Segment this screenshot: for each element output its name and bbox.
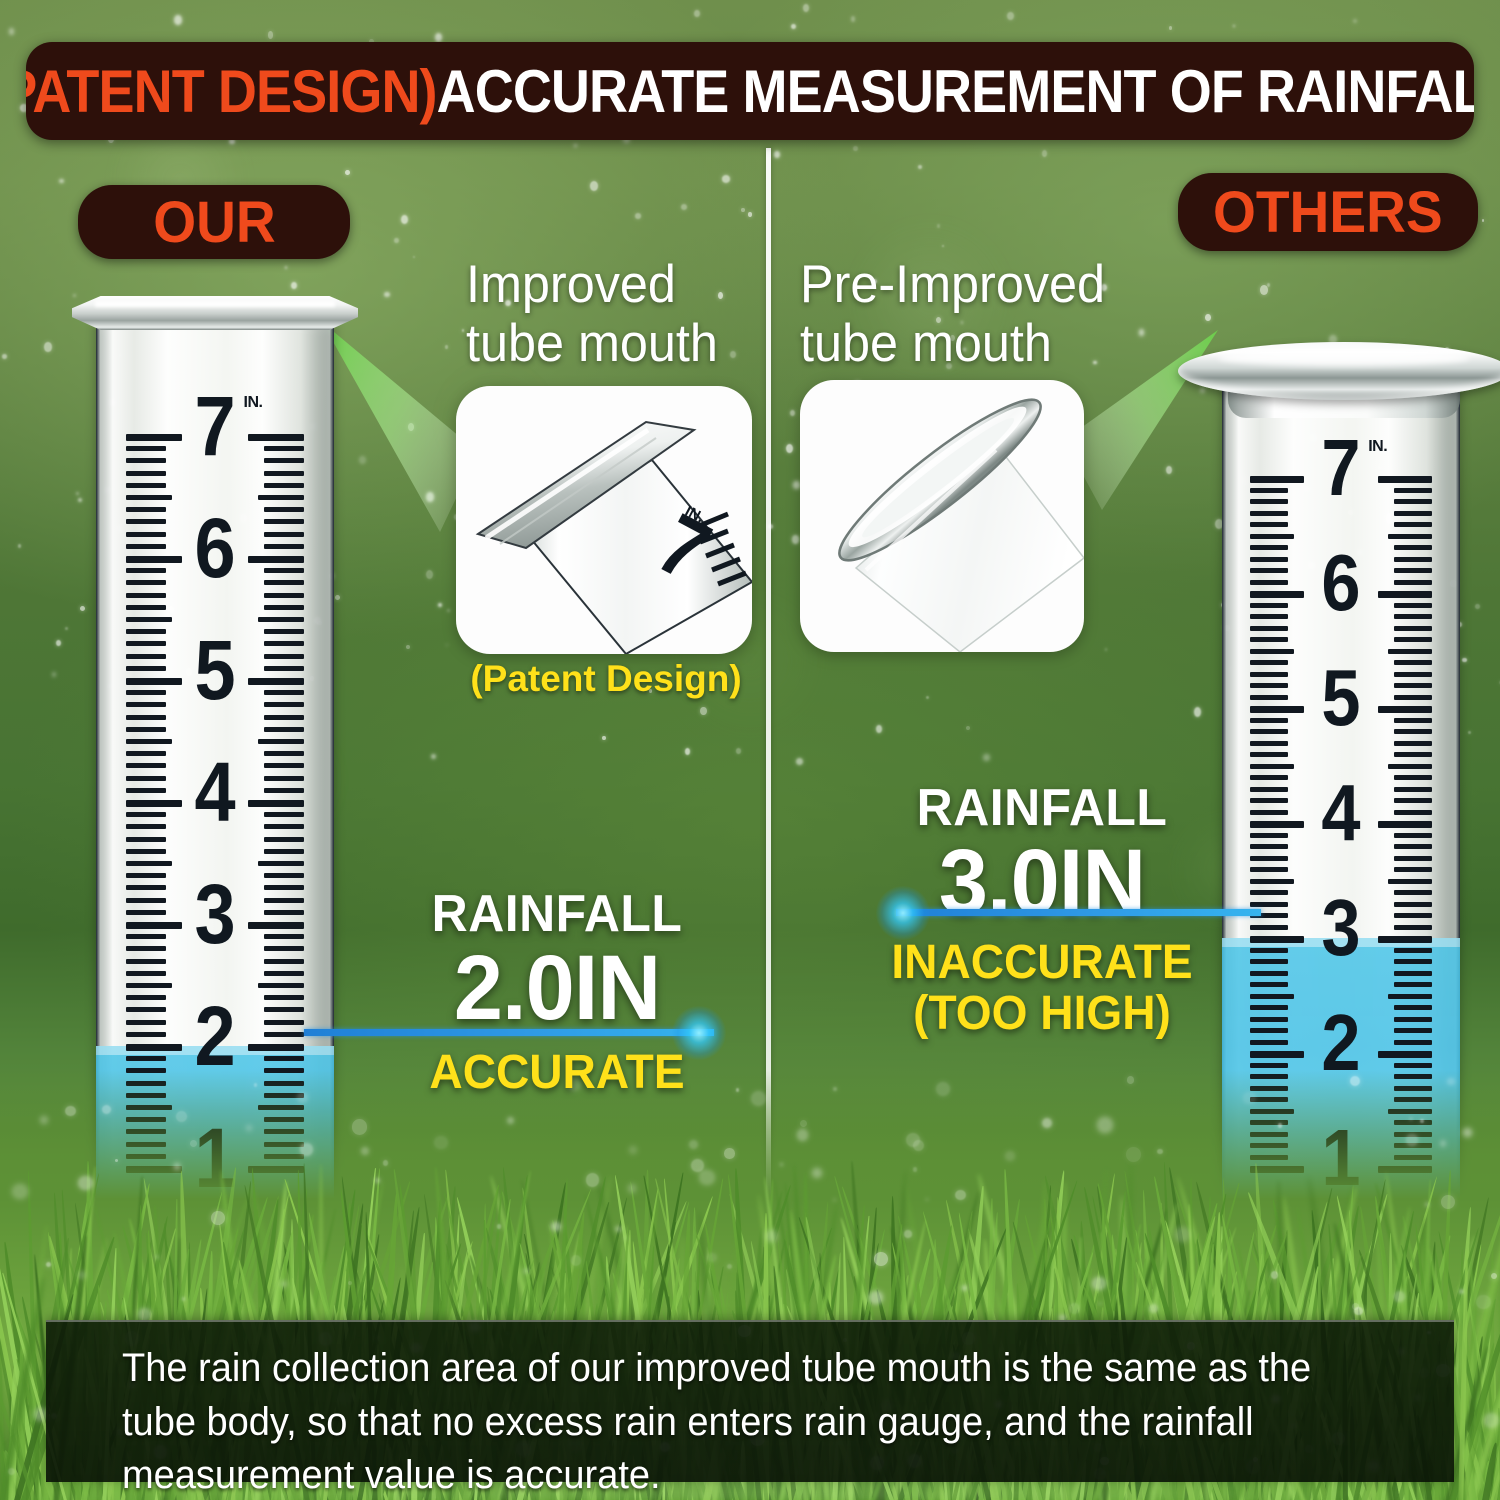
badge-others: OTHERS	[1178, 173, 1478, 251]
infographic-canvas: 7654321IN. 7654321IN.	[0, 0, 1500, 1500]
improved-mouth-label-line1: Improved	[466, 255, 718, 314]
verdict-others-line2: (TOO HIGH)	[879, 989, 1205, 1039]
improved-mouth-closeup-card: 7 IN.	[456, 386, 752, 654]
badge-our: OUR	[78, 185, 350, 259]
water-level-line-others	[896, 909, 1261, 916]
pre-improved-mouth-label: Pre-Improved tube mouth	[800, 255, 1105, 374]
improved-flat-tube-mouth	[72, 296, 358, 330]
water-level-line-our	[304, 1029, 714, 1036]
footer-description-text: The rain collection area of our improved…	[122, 1342, 1338, 1500]
rainfall-label-others: RAINFALL	[879, 778, 1205, 838]
water-level-glow-others	[876, 886, 930, 940]
header-title-highlight: (PATENT DESIGN)	[26, 58, 436, 125]
header-title-rest: ACCURATE MEASUREMENT OF RAINFALL	[436, 58, 1474, 125]
patent-design-caption: (Patent Design)	[456, 658, 756, 700]
footer-description-box: The rain collection area of our improved…	[46, 1320, 1454, 1482]
pre-improved-mouth-illustration	[800, 380, 1084, 652]
pre-improved-mouth-closeup-card	[800, 380, 1084, 652]
water-level-glow-our	[672, 1006, 726, 1060]
badge-others-label: OTHERS	[1213, 179, 1443, 246]
improved-mouth-label: Improved tube mouth	[466, 255, 718, 374]
header-title: (PATENT DESIGN)ACCURATE MEASUREMENT OF R…	[26, 57, 1474, 126]
pre-improved-mouth-label-line2: tube mouth	[800, 314, 1105, 373]
pre-improved-flared-tube-mouth	[1178, 342, 1500, 400]
header-banner: (PATENT DESIGN)ACCURATE MEASUREMENT OF R…	[26, 42, 1474, 140]
rainfall-value-our: 2.0IN	[399, 944, 716, 1032]
rainfall-label-our: RAINFALL	[399, 884, 716, 944]
verdict-others-line1: INACCURATE	[879, 938, 1205, 988]
improved-mouth-illustration: 7 IN.	[456, 386, 752, 654]
improved-mouth-label-line2: tube mouth	[466, 314, 718, 373]
pre-improved-mouth-label-line1: Pre-Improved	[800, 255, 1105, 314]
verdict-our: ACCURATE	[399, 1048, 716, 1098]
badge-our-label: OUR	[153, 189, 275, 256]
measurement-callout-our: RAINFALL 2.0IN ACCURATE	[392, 884, 722, 1099]
